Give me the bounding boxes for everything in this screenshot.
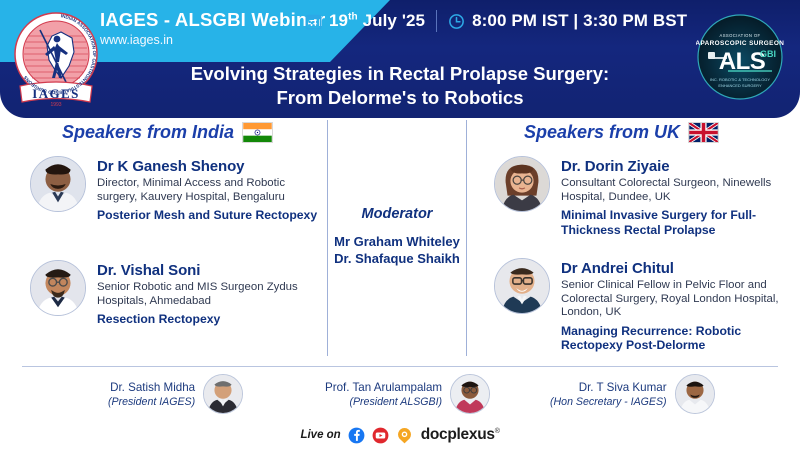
webinar-time: 8:00 PM IST | 3:30 PM BST [472,11,687,31]
avatar [203,374,243,414]
speaker-role: Senior Clinical Fellow in Pelvic Floor a… [561,279,794,320]
moderator-label: Moderator [330,204,464,224]
moderator-block: Moderator Mr Graham Whiteley Dr. Shafaqu… [330,204,464,267]
avatar [30,156,86,212]
avatar [494,258,550,314]
svg-text:GBI: GBI [760,49,776,59]
footer-area: Dr. Satish Midha (President IAGES) Prof.… [0,370,800,450]
avatar [675,374,715,414]
footer-person-role: (Hon Secretary - IAGES) [550,395,667,409]
india-flag-icon [242,122,273,143]
speaker-details: Dr. Vishal Soni Senior Robotic and MIS S… [97,260,322,327]
uk-flag-icon [688,122,719,143]
header-divider [436,10,437,32]
footer-person-text: Dr. Satish Midha (President IAGES) [108,380,195,409]
speaker-card-uk-1: Dr. Dorin Ziyaie Consultant Colorectal S… [494,156,794,237]
column-divider-left [327,120,328,356]
docplexus-icon[interactable] [396,427,413,444]
footer-person-name: Dr. Satish Midha [108,380,195,395]
uk-heading-label: Speakers from UK [524,122,680,143]
speaker-card-uk-2: Dr Andrei Chitul Senior Clinical Fellow … [494,258,794,353]
title-line-2: From Delorme's to Robotics [110,86,690,110]
brand-url[interactable]: www.iages.in [100,32,325,49]
brand-title: IAGES - ALSGBI Webinar [100,9,325,31]
live-on-bar: Live on docplexus® [0,426,800,444]
footer-person-role: (President ALSGBI) [325,395,442,409]
date-ordinal: th [348,11,358,22]
avatar [494,156,550,212]
body-footer-divider [22,366,778,367]
speaker-topic: Minimal Invasive Surgery for Full-Thickn… [561,208,794,237]
moderator-name-2: Dr. Shafaque Shaikh [330,250,464,267]
speaker-name: Dr K Ganesh Shenoy [97,157,322,176]
india-section-heading: Speakers from India [62,122,273,143]
footer-person-3: Dr. T Siva Kumar (Hon Secretary - IAGES) [550,374,715,414]
page-title: Evolving Strategies in Rectal Prolapse S… [0,62,800,110]
docplexus-trademark: ® [495,428,500,435]
speaker-card-india-2: Dr. Vishal Soni Senior Robotic and MIS S… [30,260,322,327]
speakers-area: Speakers from India Speakers from UK [0,120,800,368]
date-time-block: 19th July '25 8:00 PM IST | 3:30 PM BST [305,10,687,32]
footer-person-text: Prof. Tan Arulampalam (President ALSGBI) [325,380,442,409]
svg-text:ASSOCIATION OF: ASSOCIATION OF [720,33,761,38]
footer-person-2: Prof. Tan Arulampalam (President ALSGBI) [325,374,490,414]
speaker-details: Dr Andrei Chitul Senior Clinical Fellow … [561,258,794,353]
speaker-topic: Resection Rectopexy [97,312,322,327]
calendar-icon [305,13,322,30]
title-line-1: Evolving Strategies in Rectal Prolapse S… [110,62,690,86]
webinar-poster: IAGES 1993 INDIAN ASSOCIATION OF GASTROI… [0,0,800,450]
speaker-role: Director, Minimal Access and Robotic sur… [97,177,322,204]
speaker-role: Senior Robotic and MIS Surgeon Zydus Hos… [97,281,322,308]
date-day: 19 [329,11,348,30]
live-on-label: Live on [300,429,340,441]
footer-person-text: Dr. T Siva Kumar (Hon Secretary - IAGES) [550,380,667,409]
speaker-card-india-1: Dr K Ganesh Shenoy Director, Minimal Acc… [30,156,322,223]
moderator-name-1: Mr Graham Whiteley [330,233,464,250]
webinar-date: 19th July '25 [329,11,425,31]
brand-block: IAGES - ALSGBI Webinar www.iages.in [100,9,325,49]
speaker-role: Consultant Colorectal Surgeon, Ninewells… [561,177,794,204]
footer-person-name: Dr. T Siva Kumar [550,380,667,395]
speaker-topic: Posterior Mesh and Suture Rectopexy [97,208,322,223]
avatar [30,260,86,316]
footer-person-name: Prof. Tan Arulampalam [325,380,442,395]
clock-icon [448,13,465,30]
footer-person-role: (President IAGES) [108,395,195,409]
facebook-icon[interactable] [348,427,365,444]
india-heading-label: Speakers from India [62,122,234,143]
uk-section-heading: Speakers from UK [524,122,719,143]
speaker-details: Dr. Dorin Ziyaie Consultant Colorectal S… [561,156,794,237]
speaker-details: Dr K Ganesh Shenoy Director, Minimal Acc… [97,156,322,223]
footer-person-1: Dr. Satish Midha (President IAGES) [108,374,243,414]
speaker-name: Dr Andrei Chitul [561,259,794,278]
docplexus-label: docplexus [421,426,495,443]
avatar [450,374,490,414]
speaker-name: Dr. Vishal Soni [97,261,322,280]
column-divider-right [466,120,467,356]
docplexus-wordmark[interactable]: docplexus® [421,426,500,444]
svg-text:LAPAROSCOPIC SURGEONS: LAPAROSCOPIC SURGEONS [696,40,784,47]
date-month-year: July '25 [358,11,425,30]
speaker-topic: Managing Recurrence: Robotic Rectopexy P… [561,324,794,353]
youtube-icon[interactable] [372,427,389,444]
speaker-name: Dr. Dorin Ziyaie [561,157,794,176]
